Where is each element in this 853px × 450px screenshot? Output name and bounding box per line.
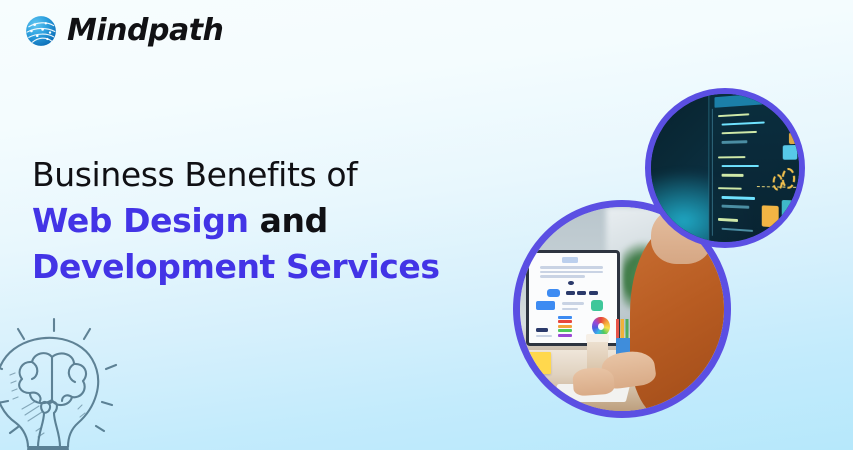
headline-line-2: Web Design and — [32, 198, 440, 244]
headline-accent-web-design: Web Design — [32, 201, 249, 240]
brand-name: Mindpath — [67, 16, 223, 46]
monitor-screen — [526, 250, 620, 346]
brand-logo[interactable]: Mindpath — [24, 14, 223, 48]
code-editor-photo — [645, 88, 805, 248]
headline-conjunction: and — [249, 201, 328, 240]
headline-accent-development-services: Development Services — [32, 247, 440, 286]
banner-canvas: Mindpath Business Benefits of Web Design… — [0, 0, 853, 450]
lightbulb-brain-idea-icon — [0, 305, 142, 450]
globe-network-icon — [24, 14, 58, 48]
headline-line-3: Development Services — [32, 244, 440, 290]
headline-line-1: Business Benefits of — [32, 152, 440, 198]
page-title: Business Benefits of Web Design and Deve… — [32, 152, 440, 290]
